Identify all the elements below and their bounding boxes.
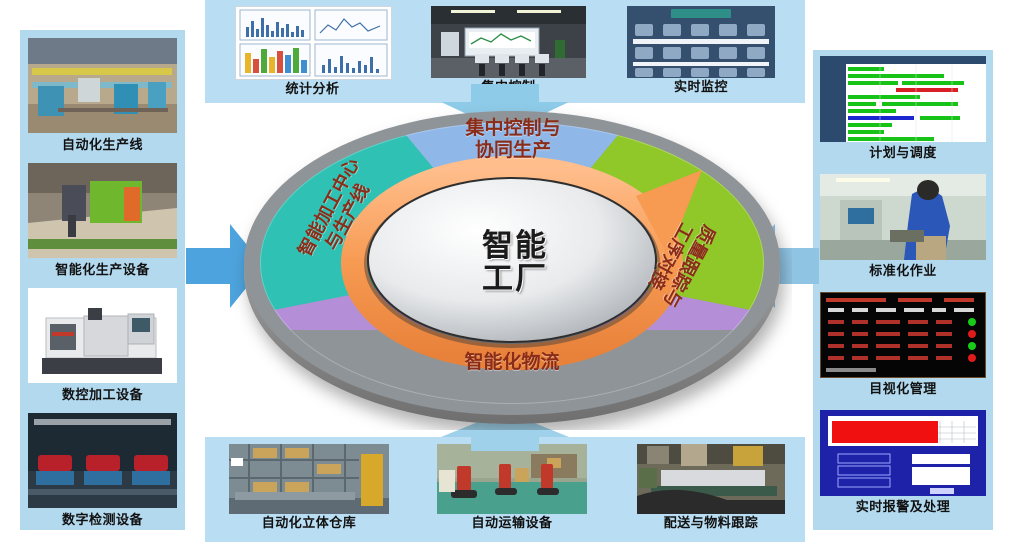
top-card-0[interactable]: 统计分析 [235,6,390,97]
right-column-panel: 计划与调度 标准化作业 [813,50,993,530]
hub-title: 智能 工厂 [482,230,548,296]
quadrant-label-bottom: 智能化物流 [417,352,607,374]
left-card-2[interactable]: 数控加工设备 [28,288,177,406]
left-card-1[interactable]: 智能化生产设备 [28,163,177,281]
thumbnail-smart-equipment [28,163,177,258]
left-card-3[interactable]: 数字检测设备 [28,413,177,531]
right-card-1[interactable]: 标准化作业 [820,174,986,282]
thumbnail-control-room [431,6,586,78]
bottom-card-label-1: 自动运输设备 [437,517,587,531]
center-cycle-diagram: 集中控制与 协同生产 智能加工中心 与生产线 质量跟踪与 工序对接 智能化物流 … [232,100,792,430]
thumbnail-statistics-dashboard [235,6,392,80]
bottom-card-label-0: 自动化立体仓库 [229,517,389,531]
right-card-0[interactable]: 计划与调度 [820,56,986,164]
bottom-card-0[interactable]: 自动化立体仓库 [229,444,389,531]
thumbnail-gantt-schedule [820,56,986,142]
thumbnail-material-tracking [637,444,785,514]
left-card-label-3: 数字检测设备 [28,511,177,531]
thumbnail-visual-board [820,292,986,378]
right-card-3[interactable]: 实时报警及处理 [820,410,986,518]
infographic-canvas: 自动化生产线 智能化生产设备 [0,0,1024,547]
thumbnail-alarm-screen [820,410,986,496]
thumbnail-automated-warehouse [229,444,389,514]
right-card-2[interactable]: 目视化管理 [820,292,986,400]
hub-title-line2: 工厂 [482,263,548,296]
hub-title-line1: 智能 [482,230,548,263]
bottom-card-2[interactable]: 配送与物料跟踪 [637,444,785,531]
left-card-label-1: 智能化生产设备 [28,261,177,281]
top-card-2[interactable]: 实时监控 [627,6,775,95]
thumbnail-cnc-machine [28,288,177,383]
top-card-label-2: 实时监控 [627,81,775,95]
bottom-card-label-2: 配送与物料跟踪 [637,517,785,531]
right-card-label-3: 实时报警及处理 [820,498,986,518]
thumbnail-standard-work [820,174,986,260]
thumbnail-monitoring-grid [627,6,775,78]
left-card-label-0: 自动化生产线 [28,136,177,156]
bottom-card-1[interactable]: 自动运输设备 [437,444,587,531]
right-card-label-1: 标准化作业 [820,262,986,282]
left-card-0[interactable]: 自动化生产线 [28,38,177,156]
left-card-label-2: 数控加工设备 [28,386,177,406]
quadrant-label-top: 集中控制与 协同生产 [418,118,608,162]
right-card-label-2: 目视化管理 [820,380,986,400]
thumbnail-digital-inspection [28,413,177,508]
thumbnail-automated-line [28,38,177,133]
top-card-label-0: 统计分析 [235,83,390,97]
left-column-panel: 自动化生产线 智能化生产设备 [20,30,185,530]
top-card-1[interactable]: 集中控制 [431,6,586,95]
right-card-label-0: 计划与调度 [820,144,986,164]
